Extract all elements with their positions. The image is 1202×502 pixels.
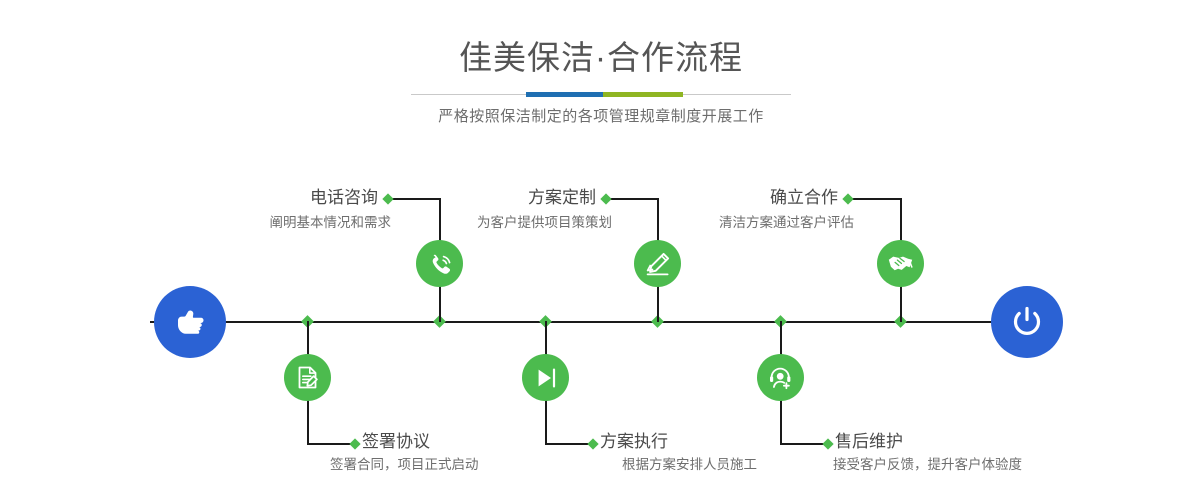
pointing-hand-icon	[170, 302, 210, 342]
leader-line-5	[848, 198, 901, 200]
step-desc-2: 签署合同，项目正式启动	[330, 456, 580, 474]
step-desc-3: 为客户提供项目策策划	[370, 214, 612, 232]
step-label-6: 售后维护	[835, 432, 1065, 452]
step-label-2: 签署协议	[362, 432, 582, 452]
timeline-end-node[interactable]	[991, 286, 1063, 358]
pencil-design-icon	[644, 250, 672, 278]
leader-line-6	[780, 443, 828, 445]
customer-service-icon	[767, 364, 794, 391]
power-icon	[1008, 303, 1046, 341]
leader-line-4	[545, 443, 593, 445]
step-icon-2[interactable]	[284, 354, 331, 401]
phone-call-icon	[426, 250, 454, 278]
process-timeline: 电话咨询 阐明基本情况和需求 签署协议 签署合同，项目正式启动	[0, 0, 1202, 502]
step-desc-6: 接受客户反馈，提升客户体验度	[833, 456, 1093, 474]
leader-tip-6	[822, 438, 833, 449]
step-label-4: 方案执行	[600, 432, 820, 452]
leader-tip-3	[600, 193, 611, 204]
handshake-icon	[886, 249, 915, 278]
step-icon-3[interactable]	[634, 240, 681, 287]
step-icon-6[interactable]	[757, 354, 804, 401]
flow-diagram-page: 佳美保洁·合作流程 严格按照保洁制定的各项管理规章制度开展工作	[0, 0, 1202, 502]
step-label-3: 方案定制	[380, 188, 596, 208]
step-desc-1: 阐明基本情况和需求	[163, 214, 391, 232]
step-icon-4[interactable]	[522, 354, 569, 401]
timeline-axis	[150, 321, 1053, 323]
leader-tip-2	[349, 438, 360, 449]
step-label-1: 电话咨询	[163, 188, 378, 208]
leader-line-2	[307, 443, 355, 445]
step-desc-5: 清洁方案通过客户评估	[610, 214, 854, 232]
timeline-start-node[interactable]	[154, 286, 226, 358]
leader-tip-5	[842, 193, 853, 204]
step-icon-1[interactable]	[416, 240, 463, 287]
step-icon-5[interactable]	[877, 240, 924, 287]
document-edit-icon	[294, 364, 321, 391]
step-label-5: 确立合作	[620, 188, 838, 208]
play-execute-icon	[533, 365, 559, 391]
leader-tip-4	[587, 438, 598, 449]
